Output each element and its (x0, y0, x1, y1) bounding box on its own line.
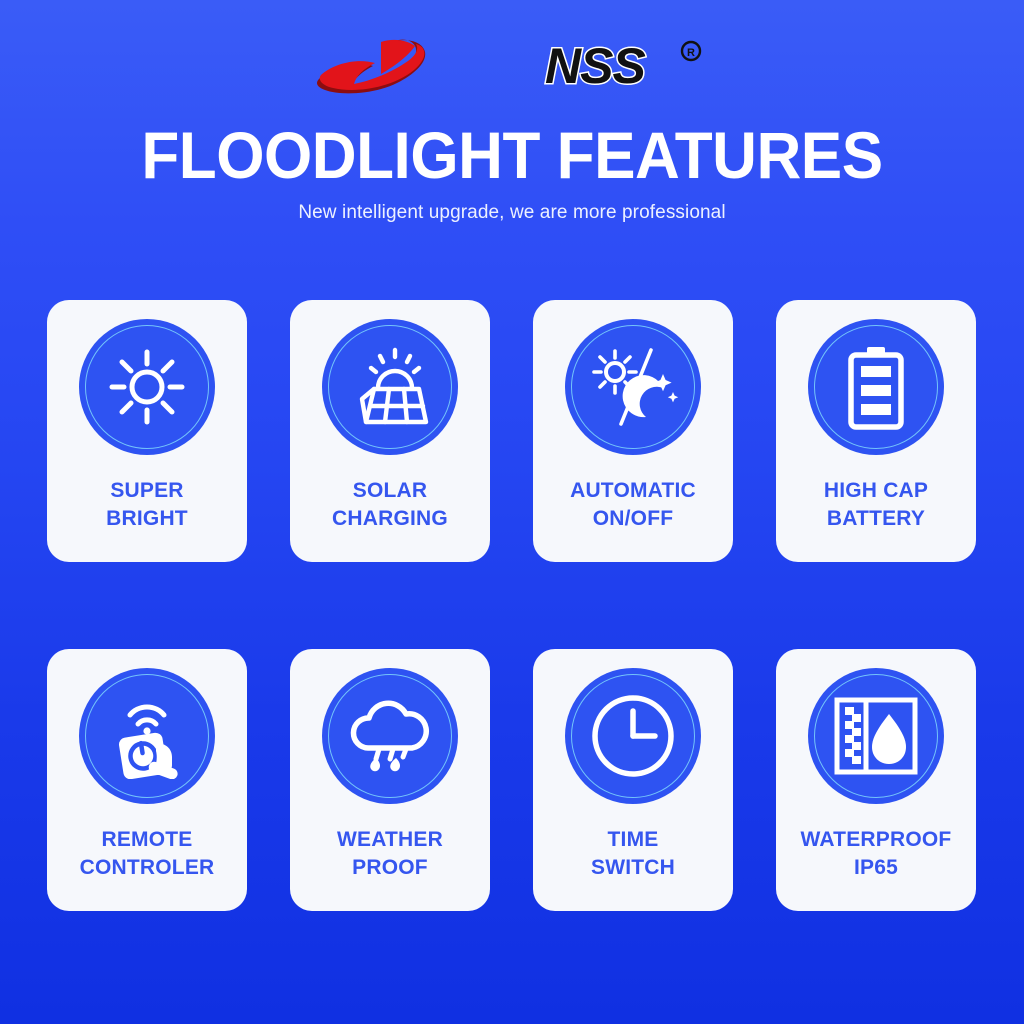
icon-badge (565, 668, 701, 804)
feature-label: REMOTE CONTROLER (80, 826, 215, 882)
icon-badge (79, 319, 215, 455)
feature-label: WEATHER PROOF (337, 826, 443, 882)
feature-label: SUPER BRIGHT (106, 477, 188, 533)
feature-card-high-cap-battery[interactable]: HIGH CAP BATTERY (776, 300, 976, 562)
feature-label: AUTOMATIC ON/OFF (570, 477, 696, 533)
feature-label: TIME SWITCH (591, 826, 675, 882)
icon-badge (808, 319, 944, 455)
page-subtitle: New intelligent upgrade, we are more pro… (0, 202, 1024, 224)
feature-label: HIGH CAP BATTERY (824, 477, 928, 533)
rain-cloud-icon (346, 696, 434, 776)
icon-badge (79, 668, 215, 804)
brand-logo: NSS R (0, 34, 1024, 100)
water-droplet-icon (834, 697, 918, 775)
svg-text:R: R (687, 47, 695, 59)
clock-icon (589, 692, 677, 780)
sun-moon-icon (587, 344, 679, 430)
page-header: NSS R FLOODLIGHT FEATURES New intelligen… (0, 0, 1024, 224)
feature-card-super-bright[interactable]: SUPER BRIGHT (47, 300, 247, 562)
svg-text:NSS: NSS (545, 38, 645, 94)
feature-card-automatic-on-off[interactable]: AUTOMATIC ON/OFF (533, 300, 733, 562)
icon-badge (322, 668, 458, 804)
feature-grid: SUPER BRIGHT (47, 300, 977, 911)
page-title: FLOODLIGHT FEATURES (31, 122, 994, 188)
feature-card-solar-charging[interactable]: SOLAR CHARGING (290, 300, 490, 562)
icon-badge (565, 319, 701, 455)
feature-card-waterproof-ip65[interactable]: WATERPROOF IP65 (776, 649, 976, 911)
feature-label: WATERPROOF IP65 (801, 826, 952, 882)
feature-card-remote-controler[interactable]: REMOTE CONTROLER (47, 649, 247, 911)
feature-card-weather-proof[interactable]: WEATHER PROOF (290, 649, 490, 911)
icon-badge (322, 319, 458, 455)
feature-card-time-switch[interactable]: TIME SWITCH (533, 649, 733, 911)
nss-wordmark: NSS R (543, 36, 713, 98)
remote-hand-icon (104, 693, 190, 779)
battery-icon (845, 344, 907, 430)
sun-icon (106, 346, 188, 428)
icon-badge (808, 668, 944, 804)
feature-label: SOLAR CHARGING (332, 477, 448, 533)
solar-panel-icon (347, 344, 433, 430)
nss-swoosh-icon (311, 36, 539, 98)
